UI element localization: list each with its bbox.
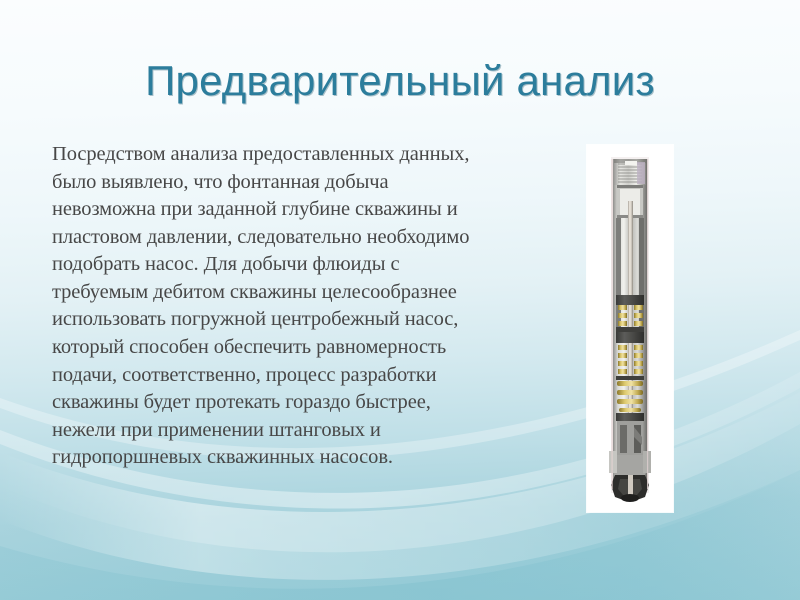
slide-body-text: Посредством анализа предоставленных данн… <box>52 141 470 472</box>
submersible-pump-cutaway-icon <box>587 145 673 512</box>
pump-illustration-frame <box>587 145 673 512</box>
slide-title: Предварительный анализ <box>40 58 760 104</box>
slide-canvas: Предварительный анализ Посредством анали… <box>0 0 800 600</box>
